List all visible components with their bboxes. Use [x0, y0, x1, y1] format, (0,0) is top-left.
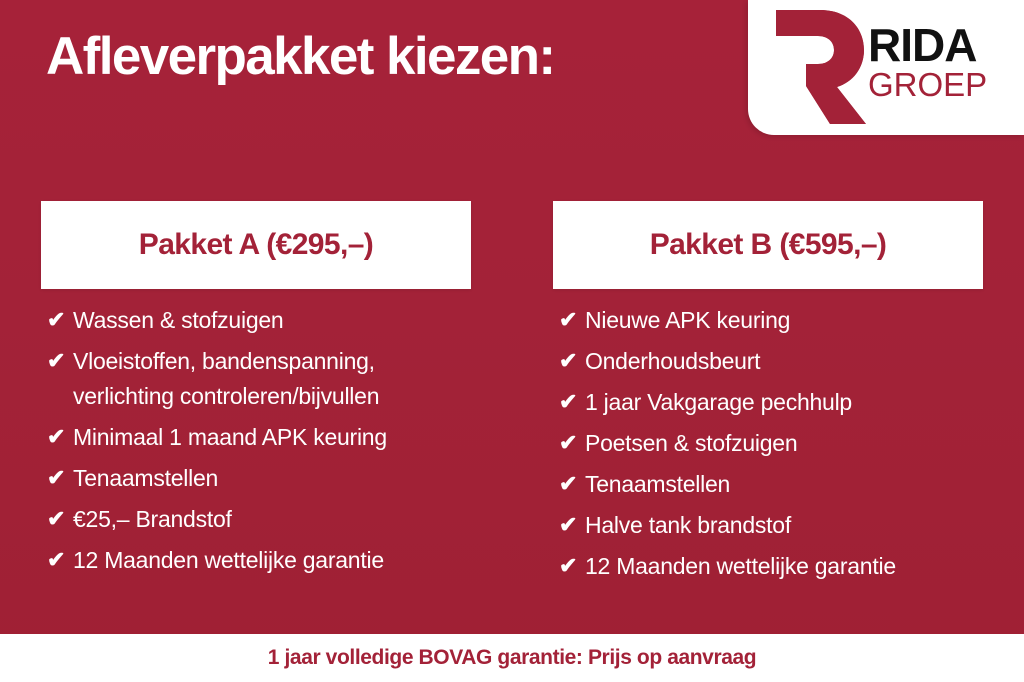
feature-label: 1 jaar Vakgarage pechhulp [585, 385, 983, 420]
poster-header: Afleverpakket kiezen: RIDA GROEP [0, 0, 1024, 140]
feature-label: Poetsen & stofzuigen [585, 426, 983, 461]
list-item: ✔ Tenaamstellen [47, 461, 471, 496]
footer-banner: 1 jaar volledige BOVAG garantie: Prijs o… [0, 634, 1024, 682]
brand-wordmark: RIDA GROEP [868, 24, 1018, 103]
rida-r-monogram-icon [768, 6, 868, 128]
feature-label: Tenaamstellen [585, 467, 983, 502]
list-item: ✔ €25,– Brandstof [47, 502, 471, 537]
footer-text: 1 jaar volledige BOVAG garantie: Prijs o… [268, 646, 756, 670]
brand-name: RIDA [868, 24, 1018, 66]
check-icon: ✔ [47, 543, 73, 576]
list-item: ✔ 12 Maanden wettelijke garantie [47, 543, 471, 578]
feature-label: €25,– Brandstof [73, 502, 471, 537]
brand-subtitle: GROEP [868, 68, 1018, 103]
list-item: ✔ Minimaal 1 maand APK keuring [47, 420, 471, 455]
check-icon: ✔ [47, 461, 73, 494]
list-item: ✔ Onderhoudsbeurt [559, 344, 983, 379]
package-a-title: Pakket A (€295,–) [139, 228, 373, 262]
feature-label: Wassen & stofzuigen [73, 303, 471, 338]
package-card-b[interactable]: Pakket B (€595,–) ✔ Nieuwe APK keuring ✔… [553, 201, 983, 590]
feature-label: Minimaal 1 maand APK keuring [73, 420, 471, 455]
list-item: ✔ Vloeistoffen, bandenspanning, verlicht… [47, 344, 471, 414]
brand-logo-panel: RIDA GROEP [748, 0, 1024, 135]
list-item: ✔ Nieuwe APK keuring [559, 303, 983, 338]
feature-label: 12 Maanden wettelijke garantie [73, 543, 471, 578]
package-a-feature-list: ✔ Wassen & stofzuigen ✔ Vloeistoffen, ba… [41, 289, 471, 578]
check-icon: ✔ [559, 508, 585, 541]
check-icon: ✔ [47, 502, 73, 535]
package-a-header: Pakket A (€295,–) [41, 201, 471, 289]
list-item: ✔ 1 jaar Vakgarage pechhulp [559, 385, 983, 420]
list-item: ✔ Poetsen & stofzuigen [559, 426, 983, 461]
check-icon: ✔ [47, 303, 73, 336]
check-icon: ✔ [559, 303, 585, 336]
feature-label: Vloeistoffen, bandenspanning, verlichtin… [73, 344, 471, 414]
feature-label: Nieuwe APK keuring [585, 303, 983, 338]
package-b-header: Pakket B (€595,–) [553, 201, 983, 289]
package-b-title: Pakket B (€595,–) [650, 228, 887, 262]
list-item: ✔ Tenaamstellen [559, 467, 983, 502]
list-item: ✔ Halve tank brandstof [559, 508, 983, 543]
check-icon: ✔ [47, 344, 73, 377]
feature-label: Tenaamstellen [73, 461, 471, 496]
afleverpakket-poster: Afleverpakket kiezen: RIDA GROEP Pakket … [0, 0, 1024, 682]
page-title: Afleverpakket kiezen: [46, 28, 554, 86]
list-item: ✔ Wassen & stofzuigen [47, 303, 471, 338]
check-icon: ✔ [559, 549, 585, 582]
check-icon: ✔ [559, 426, 585, 459]
feature-label: 12 Maanden wettelijke garantie [585, 549, 983, 584]
check-icon: ✔ [559, 385, 585, 418]
check-icon: ✔ [559, 344, 585, 377]
feature-label: Halve tank brandstof [585, 508, 983, 543]
check-icon: ✔ [47, 420, 73, 453]
package-b-feature-list: ✔ Nieuwe APK keuring ✔ Onderhoudsbeurt ✔… [553, 289, 983, 584]
package-card-a[interactable]: Pakket A (€295,–) ✔ Wassen & stofzuigen … [41, 201, 471, 584]
list-item: ✔ 12 Maanden wettelijke garantie [559, 549, 983, 584]
check-icon: ✔ [559, 467, 585, 500]
feature-label: Onderhoudsbeurt [585, 344, 983, 379]
